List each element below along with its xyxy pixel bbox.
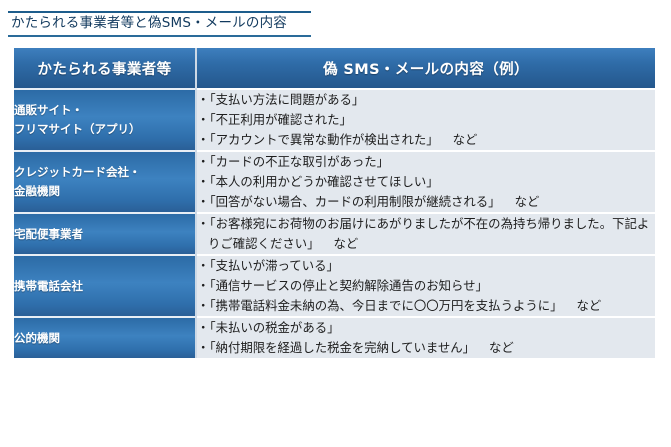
table-row: 携帯電話会社・「支払いが滞っている」・「通信サービスの停止と契約解除通告のお知ら… — [14, 255, 655, 317]
table-row: 通販サイト・フリマサイト（アプリ）・「支払い方法に問題がある」・「不正利用が確認… — [14, 89, 655, 151]
example-message-line: ・「通信サービスの停止と契約解除通告のお知らせ」 — [197, 276, 655, 296]
example-message-text: ・「お客様宛にお荷物のお届けにあがりましたが不在の為持ち帰りました。下記よりご確… — [197, 216, 649, 251]
example-message-text: ・「支払い方法に問題がある」 — [197, 92, 364, 107]
category-label-line: 公的機関 — [14, 329, 195, 348]
example-message-line: ・「アカウントで異常な動作が検出された」など — [197, 130, 655, 150]
example-message-text: ・「携帯電話料金未納の為、今日までに〇〇万円を支払うように」 — [197, 298, 563, 313]
example-message-line: ・「本人の利用かどうか確認させてほしい」 — [197, 172, 655, 192]
category-label-line: 宅配便事業者 — [14, 225, 195, 244]
example-message-text: ・「回答がない場合、カードの利用制限が継続される」 — [197, 194, 501, 209]
page-title: かたられる事業者等と偽SMS・メールの内容 — [8, 13, 311, 35]
example-message-line: ・「納付期限を経過した税金を完納していません」など — [197, 338, 655, 358]
category-label-line: フリマサイト（アプリ） — [14, 120, 195, 139]
example-messages-cell: ・「支払いが滞っている」・「通信サービスの停止と契約解除通告のお知らせ」・「携帯… — [196, 255, 655, 317]
table-row: 公的機関・「未払いの税金がある」・「納付期限を経過した税金を完納していません」な… — [14, 317, 655, 358]
title-rule-bottom — [8, 35, 311, 37]
table-row: クレジットカード会社・金融機関・「カードの不正な取引があった」・「本人の利用かど… — [14, 151, 655, 213]
column-header-business: かたられる事業者等 — [14, 48, 196, 89]
table-body: 通販サイト・フリマサイト（アプリ）・「支払い方法に問題がある」・「不正利用が確認… — [14, 89, 655, 358]
category-cell: 公的機関 — [14, 317, 196, 358]
example-message-text: ・「通信サービスの停止と契約解除通告のお知らせ」 — [197, 278, 488, 293]
example-messages-cell: ・「カードの不正な取引があった」・「本人の利用かどうか確認させてほしい」・「回答… — [196, 151, 655, 213]
example-message-line: ・「不正利用が確認された」 — [197, 110, 655, 130]
column-header-message: 偽 SMS・メールの内容（例） — [196, 48, 655, 89]
category-cell: 携帯電話会社 — [14, 255, 196, 317]
example-messages-cell: ・「お客様宛にお荷物のお届けにあがりましたが不在の為持ち帰りました。下記よりご確… — [196, 213, 655, 255]
example-message-text: ・「未払いの税金がある」 — [197, 320, 340, 335]
scam-impersonation-table: かたられる事業者等 偽 SMS・メールの内容（例） 通販サイト・フリマサイト（ア… — [14, 48, 655, 358]
example-message-line: ・「未払いの税金がある」 — [197, 318, 655, 338]
example-message-text: ・「支払いが滞っている」 — [197, 258, 339, 273]
example-message-etc: など — [320, 236, 359, 251]
example-message-text: ・「不正利用が確認された」 — [197, 112, 352, 127]
example-message-etc: など — [475, 340, 514, 355]
category-label-line: 携帯電話会社 — [14, 277, 195, 296]
example-message-text: ・「納付期限を経過した税金を完納していません」 — [197, 340, 475, 355]
example-message-line: ・「回答がない場合、カードの利用制限が継続される」など — [197, 192, 655, 212]
example-message-line: ・「支払いが滞っている」 — [197, 256, 655, 276]
example-message-line: ・「お客様宛にお荷物のお届けにあがりましたが不在の為持ち帰りました。下記よりご確… — [197, 214, 655, 254]
category-label-line: 通販サイト・ — [14, 101, 195, 120]
page-title-block: かたられる事業者等と偽SMS・メールの内容 — [8, 11, 311, 37]
category-cell: 通販サイト・フリマサイト（アプリ） — [14, 89, 196, 151]
table-header: かたられる事業者等 偽 SMS・メールの内容（例） — [14, 48, 655, 89]
category-label-line: クレジットカード会社・ — [14, 163, 195, 182]
example-messages-cell: ・「支払い方法に問題がある」・「不正利用が確認された」・「アカウントで異常な動作… — [196, 89, 655, 151]
category-cell: 宅配便事業者 — [14, 213, 196, 255]
table-header-row: かたられる事業者等 偽 SMS・メールの内容（例） — [14, 48, 655, 89]
category-label-line: 金融機関 — [14, 182, 195, 201]
example-message-etc: など — [563, 298, 602, 313]
example-message-text: ・「アカウントで異常な動作が検出された」 — [197, 132, 439, 147]
table-row: 宅配便事業者・「お客様宛にお荷物のお届けにあがりましたが不在の為持ち帰りました。… — [14, 213, 655, 255]
example-message-line: ・「支払い方法に問題がある」 — [197, 90, 655, 110]
example-message-text: ・「本人の利用かどうか確認させてほしい」 — [197, 174, 439, 189]
example-message-etc: など — [439, 132, 478, 147]
example-messages-cell: ・「未払いの税金がある」・「納付期限を経過した税金を完納していません」など — [196, 317, 655, 358]
example-message-etc: など — [501, 194, 540, 209]
example-message-text: ・「カードの不正な取引があった」 — [197, 154, 389, 169]
category-cell: クレジットカード会社・金融機関 — [14, 151, 196, 213]
example-message-line: ・「携帯電話料金未納の為、今日までに〇〇万円を支払うように」など — [197, 296, 655, 316]
example-message-line: ・「カードの不正な取引があった」 — [197, 152, 655, 172]
